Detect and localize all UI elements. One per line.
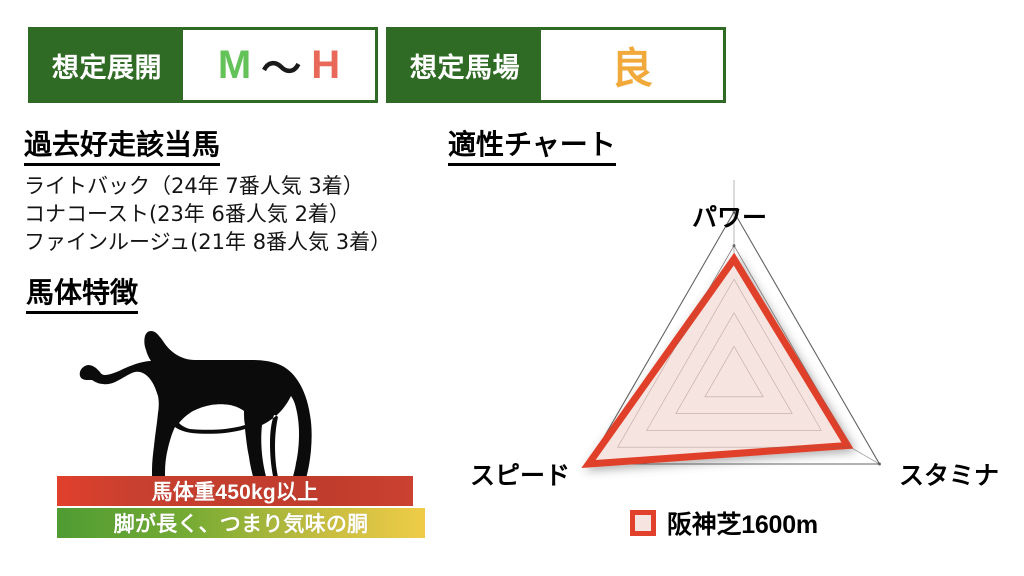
list-item: コナコースト(23年 6番人気 2着）	[24, 200, 391, 228]
pace-range-separator: ～	[261, 36, 301, 94]
horse-silhouette-icon	[62, 322, 332, 490]
expected-going-label: 想定馬場	[389, 30, 541, 100]
trait-bar-horse-weight: 馬体重450kg以上	[57, 476, 413, 506]
expected-pace-badge: 想定展開 M ～ H	[28, 27, 378, 103]
radar-tick-dot	[878, 463, 881, 466]
pace-value-to: H	[311, 43, 340, 88]
radar-axis-label-power: パワー	[692, 198, 767, 234]
radar-series-polygon	[589, 259, 848, 464]
radar-series-group	[589, 246, 851, 464]
list-item: ファインルージュ(21年 8番人気 3着）	[24, 228, 391, 256]
past-horses-heading: 過去好走該当馬	[24, 130, 220, 166]
radar-axis-label-stamina: スタミナ	[899, 456, 999, 492]
radar-axis-label-speed: スピード	[470, 456, 570, 492]
legend-label: 阪神芝1600m	[667, 505, 818, 541]
expected-going-value: 良	[541, 30, 723, 100]
past-horses-list: ライトバック（24年 7番人気 3着） コナコースト(23年 6番人気 2着） …	[24, 172, 391, 256]
legend-swatch-icon	[630, 510, 656, 536]
expected-going-badge: 想定馬場 良	[386, 27, 726, 103]
expected-pace-label: 想定展開	[31, 30, 183, 100]
pace-value-from: M	[218, 43, 251, 88]
chart-legend: 阪神芝1600m	[630, 505, 818, 541]
expected-pace-value: M ～ H	[183, 30, 375, 100]
aptitude-chart-heading: 適性チャート	[448, 130, 616, 166]
body-traits-heading: 馬体特徴	[26, 278, 138, 314]
list-item: ライトバック（24年 7番人気 3着）	[24, 172, 391, 200]
trait-bar-body-build: 脚が長く、つまり気味の胴	[57, 508, 425, 538]
